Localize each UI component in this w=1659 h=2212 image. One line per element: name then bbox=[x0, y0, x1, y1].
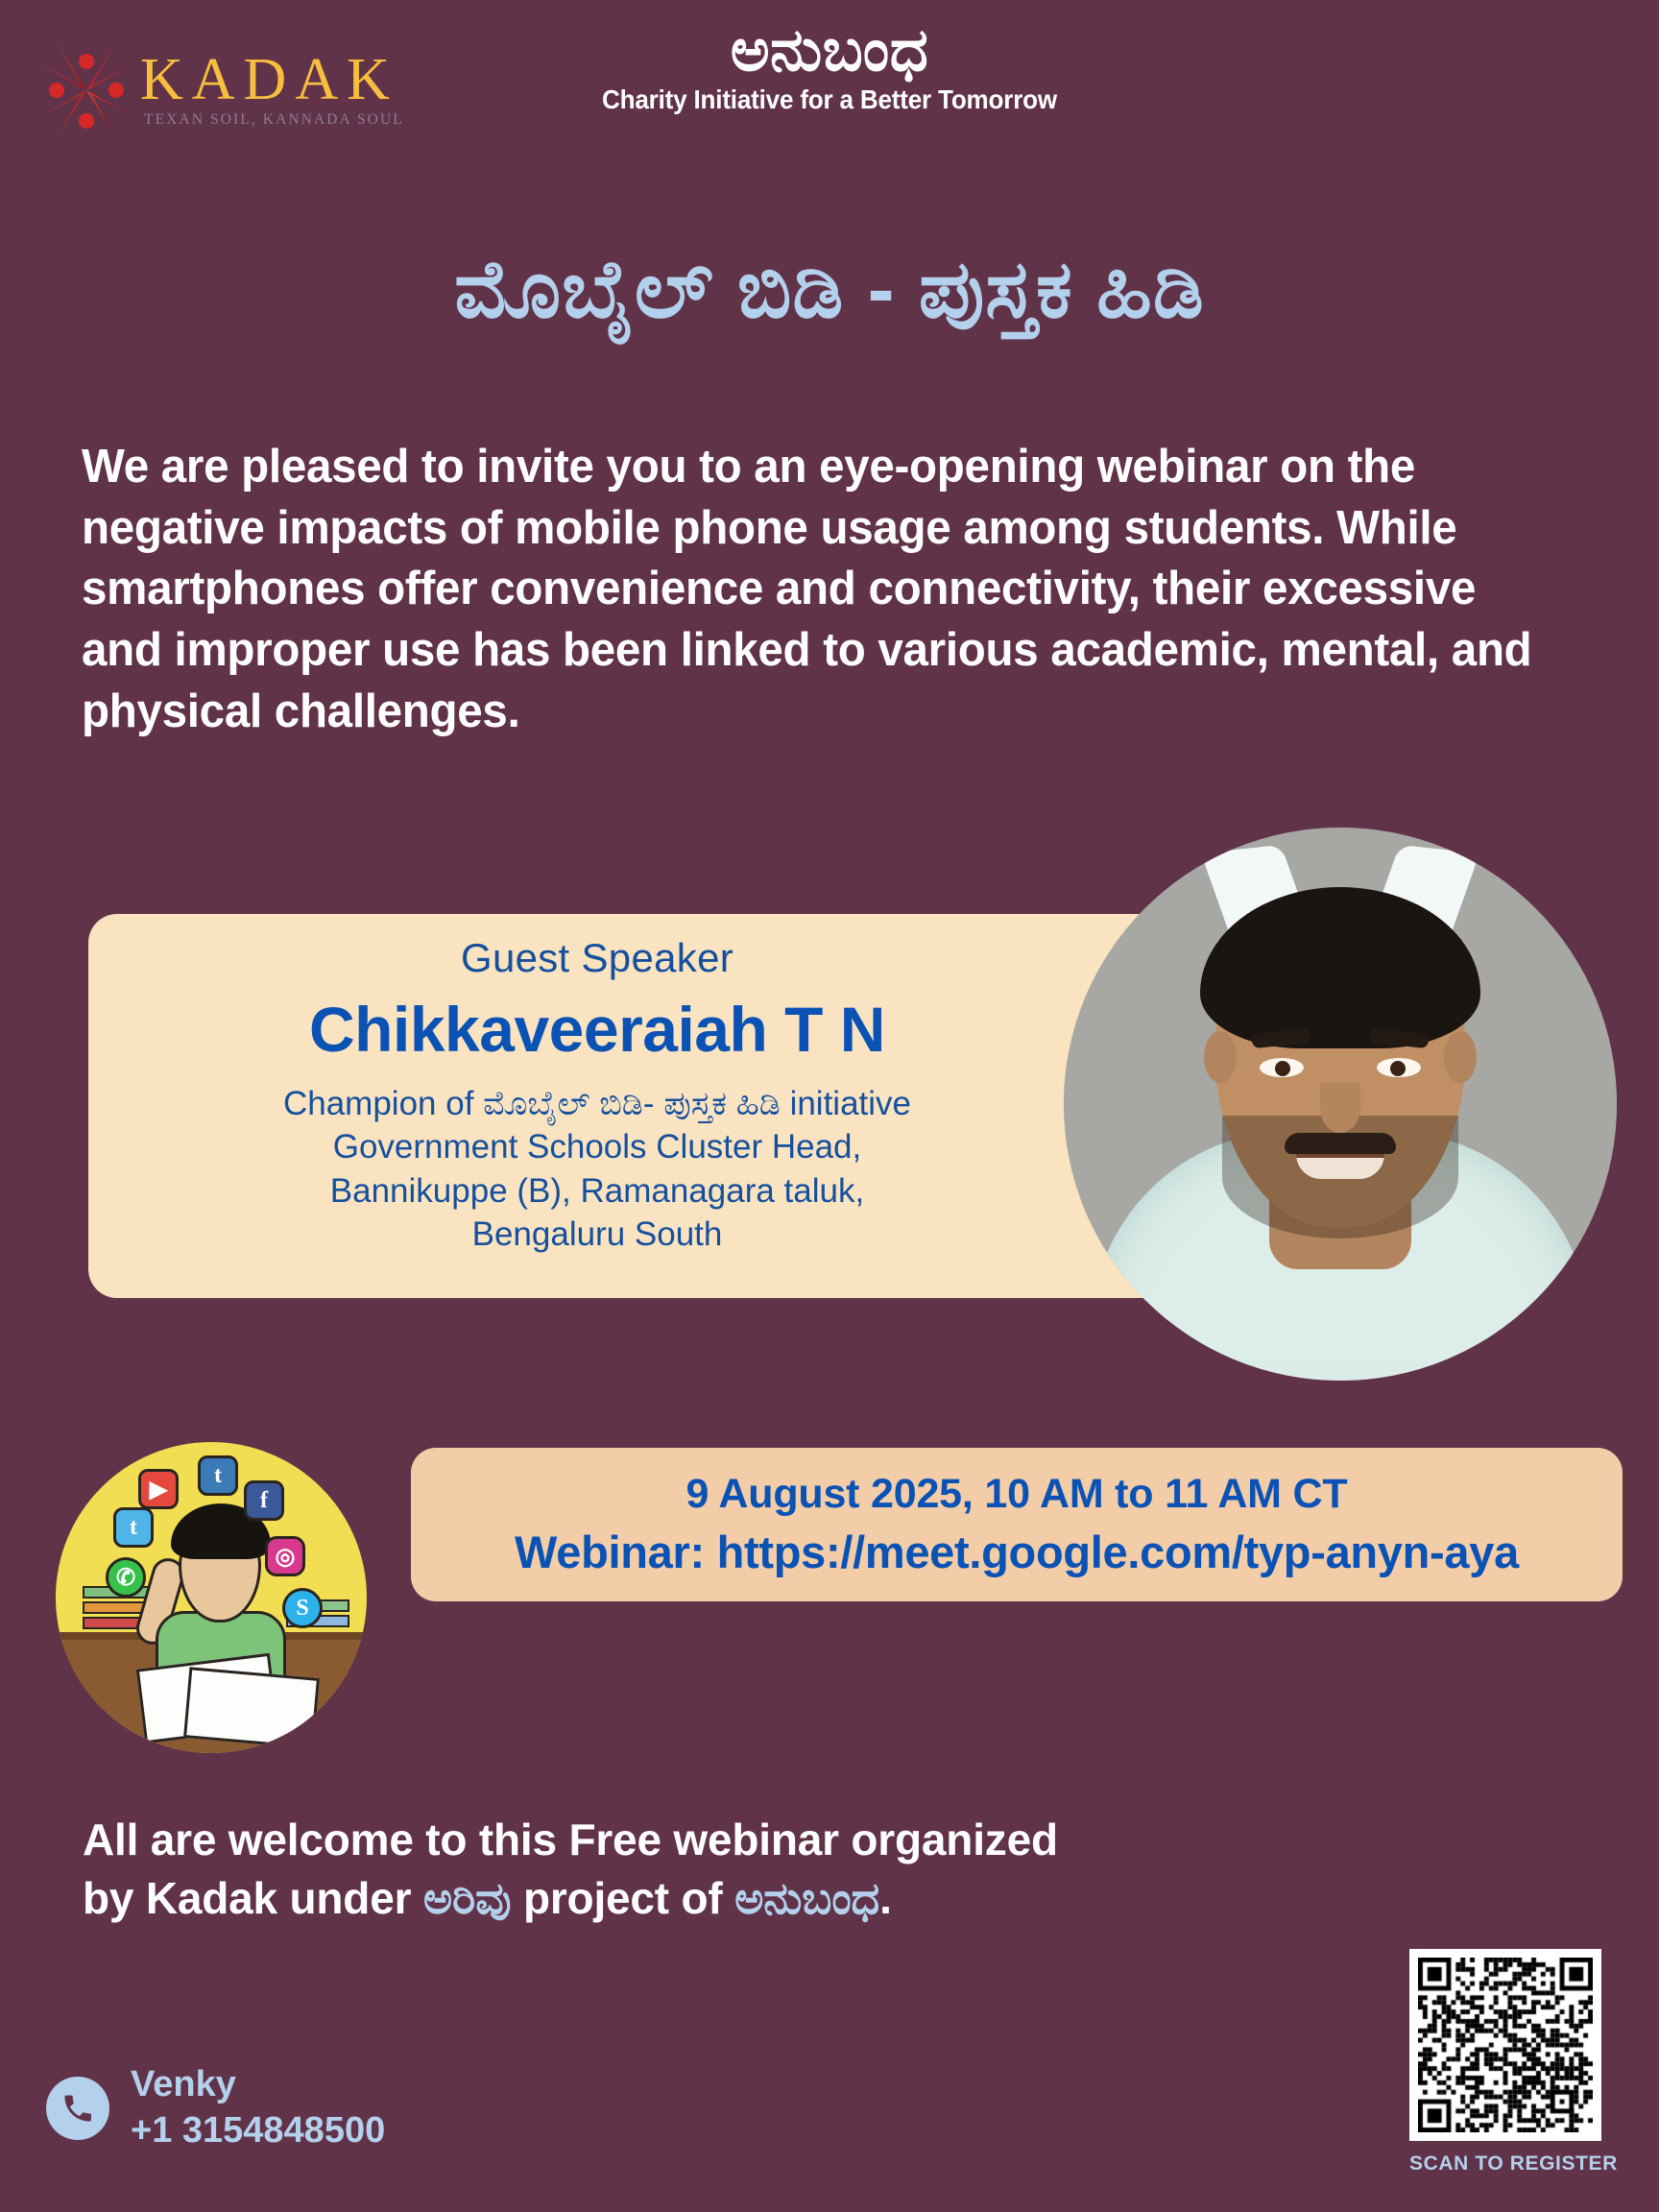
speaker-meta: Champion of ಮೊಬೈಲ್ ಬಿಡಿ- ಪುಸ್ತಕ ಹಿಡಿ ini… bbox=[88, 1082, 1106, 1257]
qr-block: SCAN TO REGISTER bbox=[1409, 1949, 1618, 2176]
contact-phone[interactable]: +1 3154848500 bbox=[131, 2108, 385, 2154]
page-title: ಮೊಬೈಲ್ ಬಿಡಿ - ಪುಸ್ತಕ ಹಿಡಿ bbox=[0, 245, 1659, 333]
speaker-details: Guest Speaker Chikkaveeraiah T N Champio… bbox=[88, 935, 1106, 1257]
qr-caption: SCAN TO REGISTER bbox=[1409, 2152, 1618, 2176]
qr-code-canvas[interactable] bbox=[1418, 1958, 1593, 2132]
speaker-meta-line: Bannikuppe (B), Ramanagara taluk, bbox=[88, 1169, 1106, 1214]
org-name-kannada-footer: ಅನುಬಂಧ bbox=[734, 1873, 879, 1923]
project-name-kannada: ಅರಿವು bbox=[423, 1873, 512, 1923]
speaker-name: Chikkaveeraiah T N bbox=[88, 995, 1106, 1065]
footer-line-1: All are welcome to this Free webinar org… bbox=[83, 1811, 1475, 1869]
footer-line-2: by Kadak under ಅರಿವು project of ಅನುಬಂಧ. bbox=[83, 1869, 1475, 1928]
instagram-icon: ◎ bbox=[265, 1536, 305, 1576]
phone-icon bbox=[46, 2077, 109, 2140]
event-datetime: 9 August 2025, 10 AM to 11 AM CT bbox=[686, 1471, 1348, 1518]
contact-name: Venky bbox=[131, 2062, 385, 2108]
intro-paragraph: We are pleased to invite you to an eye-o… bbox=[82, 437, 1567, 742]
qr-code[interactable] bbox=[1409, 1949, 1601, 2141]
student-distraction-illustration: ▶ t f t ◎ ✆ S bbox=[56, 1442, 367, 1753]
footer-prefix: by Kadak under bbox=[83, 1873, 423, 1923]
footer-mid: project of bbox=[511, 1873, 734, 1923]
whatsapp-icon: ✆ bbox=[106, 1557, 146, 1598]
speaker-photo bbox=[1064, 828, 1617, 1381]
organization-block: ಅನುಬಂಧ Charity Initiative for a Better T… bbox=[0, 21, 1659, 115]
event-details-box: 9 August 2025, 10 AM to 11 AM CT Webinar… bbox=[411, 1448, 1623, 1601]
skype-icon: S bbox=[282, 1588, 323, 1628]
speaker-meta-line: Bengaluru South bbox=[88, 1213, 1106, 1257]
org-name-kannada: ಅನುಬಂಧ bbox=[0, 21, 1659, 81]
facebook-icon: f bbox=[244, 1480, 284, 1521]
guest-speaker-label: Guest Speaker bbox=[88, 935, 1106, 981]
tumblr-icon: t bbox=[198, 1455, 238, 1496]
twitter-icon: t bbox=[113, 1507, 154, 1548]
poster-header: KADAK TEXAN SOIL, KANNADA SOUL ಅನುಬಂಧ Ch… bbox=[0, 0, 1659, 182]
contact-block: Venky +1 3154848500 bbox=[46, 2062, 385, 2153]
contact-text: Venky +1 3154848500 bbox=[131, 2062, 385, 2153]
footer-suffix: . bbox=[879, 1873, 892, 1923]
org-tagline: Charity Initiative for a Better Tomorrow bbox=[58, 84, 1600, 115]
speaker-meta-line: Champion of ಮೊಬೈಲ್ ಬಿಡಿ- ಪುಸ್ತಕ ಹಿಡಿ ini… bbox=[88, 1082, 1106, 1126]
youtube-icon: ▶ bbox=[138, 1469, 179, 1509]
footer-note: All are welcome to this Free webinar org… bbox=[83, 1811, 1475, 1927]
webinar-link[interactable]: Webinar: https://meet.google.com/typ-any… bbox=[515, 1526, 1519, 1578]
speaker-meta-line: Government Schools Cluster Head, bbox=[88, 1125, 1106, 1169]
